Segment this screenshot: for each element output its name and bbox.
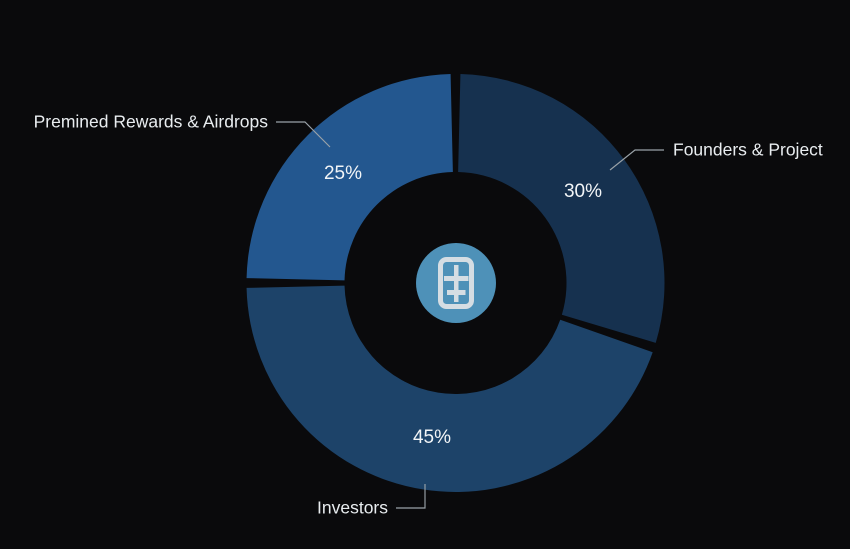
category-label-investors: Investors — [317, 498, 388, 518]
category-label-founders-project: Founders & Project — [673, 140, 823, 160]
chart-canvas: 30% 45% 25% Premined Rewards & Airdrops … — [0, 0, 850, 549]
category-label-premined-rewards-airdrops: Premined Rewards & Airdrops — [34, 112, 269, 132]
token-wallet-icon-bar-bottom — [447, 290, 466, 295]
slice-percent-investors: 45% — [413, 427, 451, 448]
slice-percent-premined-rewards-airdrops: 25% — [324, 163, 362, 184]
token-wallet-icon-stem — [454, 265, 459, 302]
token-wallet-icon — [416, 243, 496, 323]
token-wallet-icon-bar-top — [444, 276, 469, 281]
donut-chart: 30% 45% 25% Premined Rewards & Airdrops … — [0, 0, 850, 549]
slice-percent-founders-project: 30% — [564, 181, 602, 202]
